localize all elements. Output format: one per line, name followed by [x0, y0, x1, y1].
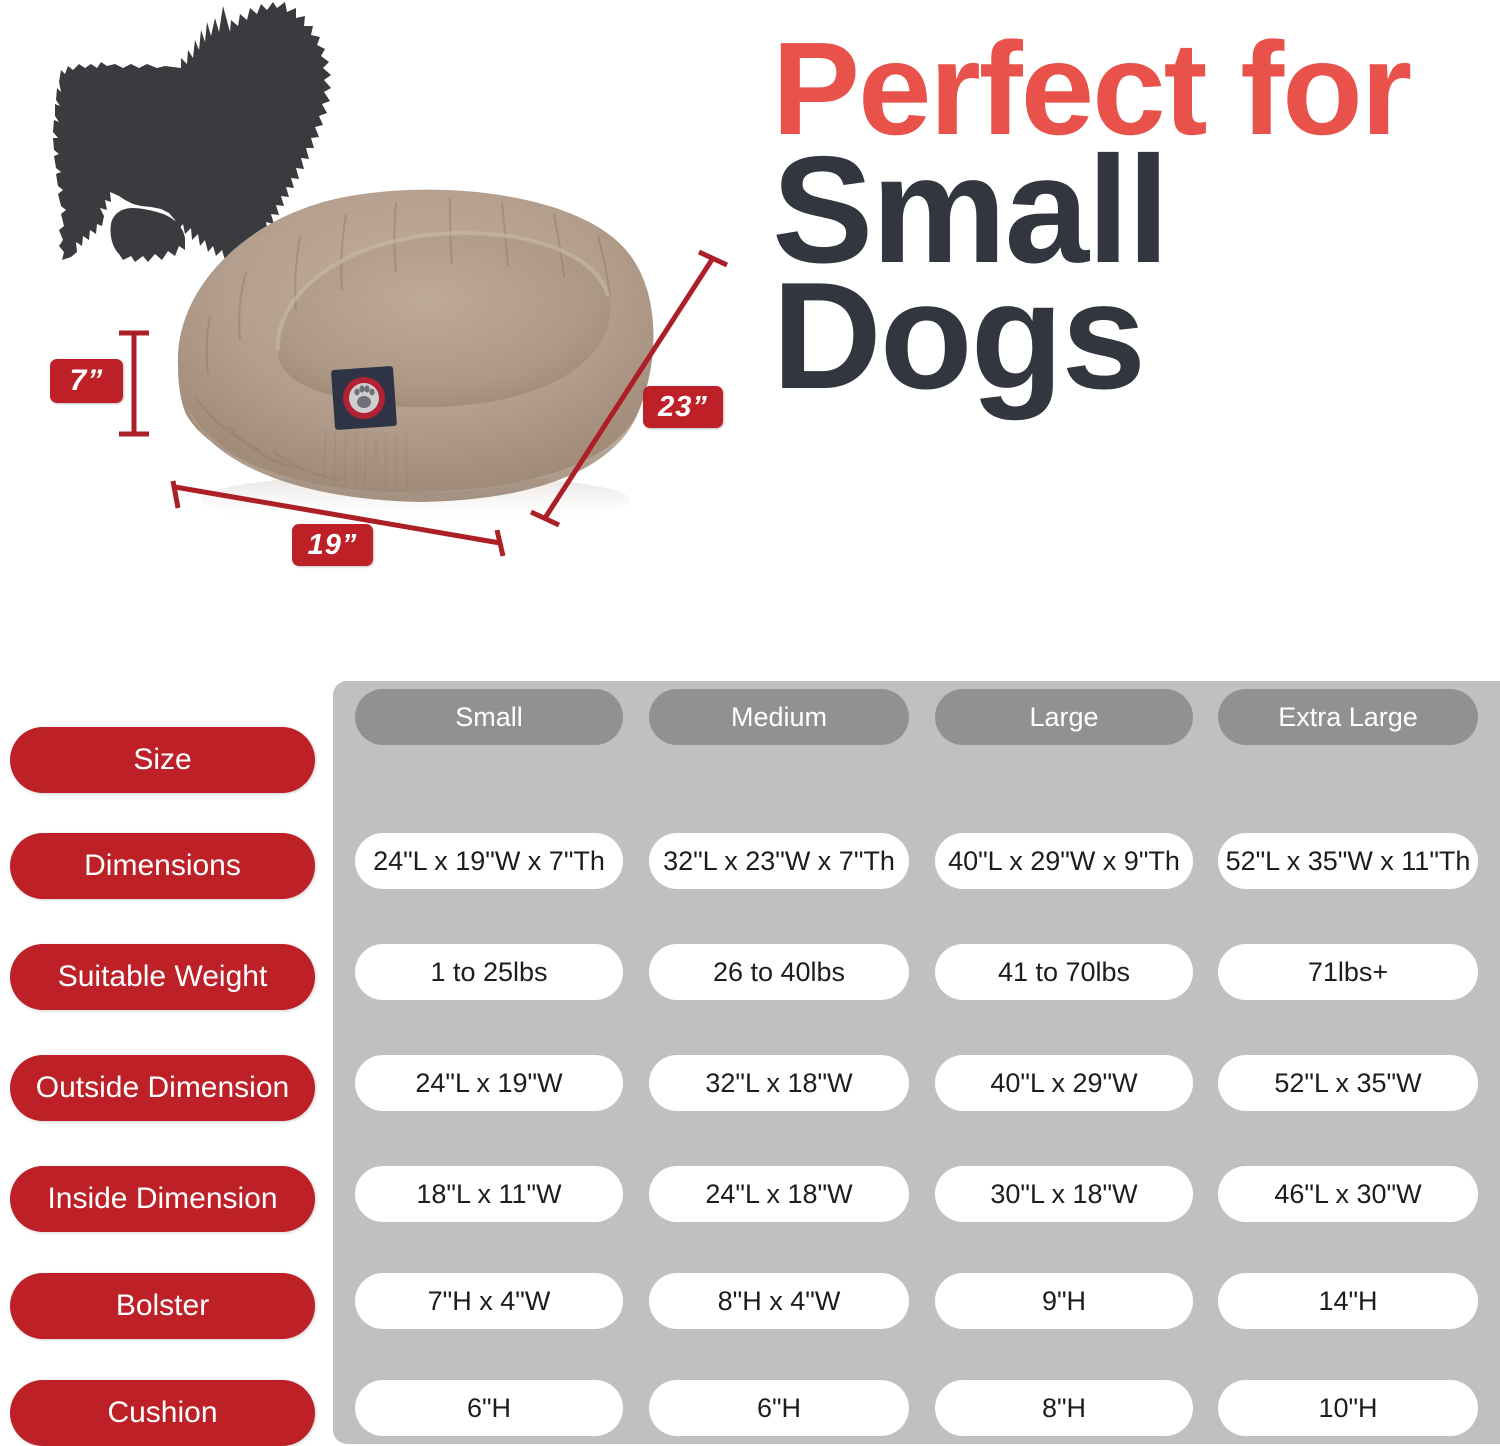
cell-suitable-weight-small: 1 to 25lbs [355, 944, 623, 1000]
cell-cushion-small: 6"H [355, 1380, 623, 1436]
product-image-dog-bed [150, 170, 680, 530]
cell-suitable-weight-medium: 26 to 40lbs [649, 944, 909, 1000]
cell-bolster-medium: 8"H x 4"W [649, 1273, 909, 1329]
cell-outside-dimension-extra-large: 52"L x 35"W [1218, 1055, 1478, 1111]
cell-outside-dimension-small: 24"L x 19"W [355, 1055, 623, 1111]
column-header-extra-large: Extra Large [1218, 689, 1478, 745]
hero-section: 7” 19” 23” Perfect for Small Dogs [0, 0, 1500, 660]
column-header-medium: Medium [649, 689, 909, 745]
cell-dimensions-large: 40"L x 29"W x 9"Th [935, 833, 1193, 889]
callout-width: 19” [292, 524, 373, 566]
cell-dimensions-extra-large: 52"L x 35"W x 11"Th [1218, 833, 1478, 889]
cell-dimensions-small: 24"L x 19"W x 7"Th [355, 833, 623, 889]
cell-bolster-large: 9"H [935, 1273, 1193, 1329]
cell-suitable-weight-extra-large: 71lbs+ [1218, 944, 1478, 1000]
column-header-small: Small [355, 689, 623, 745]
row-label-dimensions: Dimensions [10, 833, 315, 899]
cell-suitable-weight-large: 41 to 70lbs [935, 944, 1193, 1000]
cell-dimensions-medium: 32"L x 23"W x 7"Th [649, 833, 909, 889]
cell-inside-dimension-large: 30"L x 18"W [935, 1166, 1193, 1222]
height-dimension-line [119, 333, 149, 434]
brand-tag [331, 366, 397, 430]
cell-outside-dimension-large: 40"L x 29"W [935, 1055, 1193, 1111]
cell-cushion-medium: 6"H [649, 1380, 909, 1436]
cell-bolster-small: 7"H x 4"W [355, 1273, 623, 1329]
cell-inside-dimension-small: 18"L x 11"W [355, 1166, 623, 1222]
cell-cushion-large: 8"H [935, 1380, 1193, 1436]
headline: Perfect for Small Dogs [772, 28, 1492, 407]
row-label-cushion: Cushion [10, 1380, 315, 1446]
callout-depth: 23” [643, 386, 723, 428]
table-background-panel: SmallMediumLargeExtra Large24"L x 19"W x… [333, 681, 1500, 1444]
callout-height: 7” [50, 359, 123, 403]
row-label-outside-dimension: Outside Dimension [10, 1055, 315, 1121]
cell-cushion-extra-large: 10"H [1218, 1380, 1478, 1436]
row-label-size: Size [10, 727, 315, 793]
cell-inside-dimension-extra-large: 46"L x 30"W [1218, 1166, 1478, 1222]
specification-table: SmallMediumLargeExtra Large24"L x 19"W x… [0, 660, 1500, 1444]
column-header-large: Large [935, 689, 1193, 745]
cell-bolster-extra-large: 14"H [1218, 1273, 1478, 1329]
row-label-inside-dimension: Inside Dimension [10, 1166, 315, 1232]
headline-line-3: Dogs [772, 267, 1492, 407]
row-label-bolster: Bolster [10, 1273, 315, 1339]
cell-inside-dimension-medium: 24"L x 18"W [649, 1166, 909, 1222]
row-label-column: SizeDimensionsSuitable WeightOutside Dim… [0, 660, 325, 1444]
row-label-suitable-weight: Suitable Weight [10, 944, 315, 1010]
cell-outside-dimension-medium: 32"L x 18"W [649, 1055, 909, 1111]
